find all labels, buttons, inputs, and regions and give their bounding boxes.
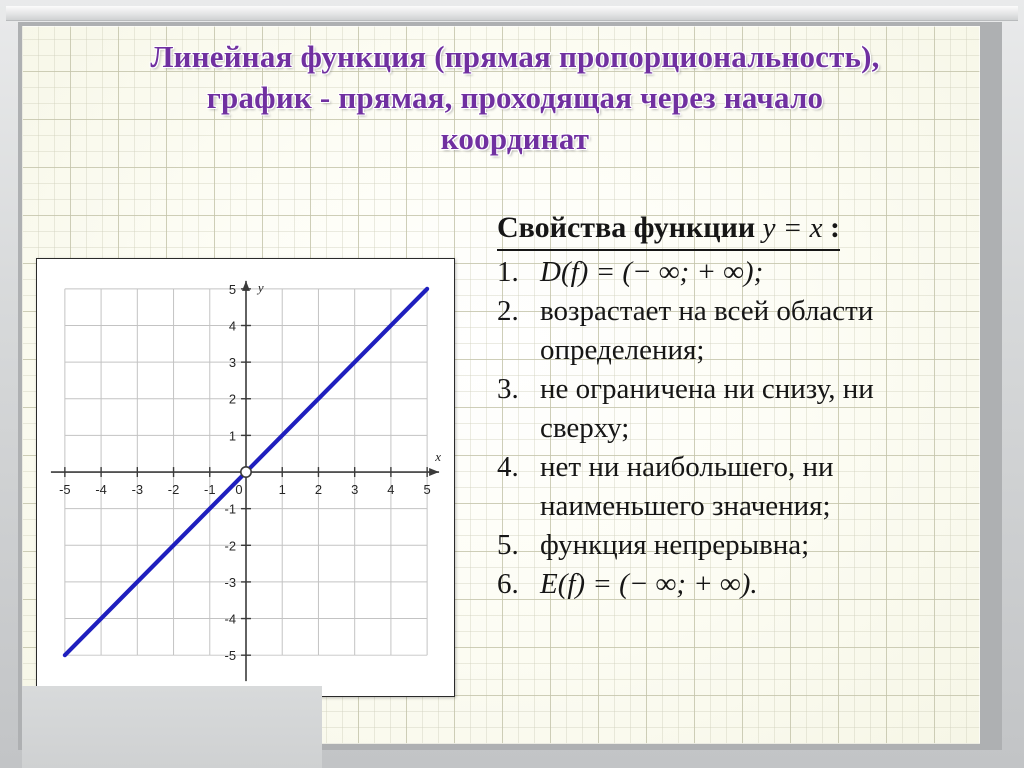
list-item-number: 1. bbox=[497, 253, 537, 292]
list-item-text: E(f) = (− ∞; + ∞). bbox=[540, 568, 758, 600]
list-item-text: не ограничена ни снизу, ни сверху; bbox=[540, 373, 874, 444]
slide: Линейная функция (прямая пропорционально… bbox=[0, 0, 1024, 768]
x-tick-label: -1 bbox=[204, 482, 215, 497]
x-tick-label: 3 bbox=[351, 482, 358, 497]
y-tick-label: 2 bbox=[229, 392, 236, 407]
y-tick-label: -2 bbox=[225, 538, 236, 553]
x-tick-label: 1 bbox=[279, 482, 286, 497]
x-tick-label: -2 bbox=[168, 482, 179, 497]
properties-heading-formula: y = x bbox=[763, 212, 823, 244]
x-tick-label: 5 bbox=[424, 482, 431, 497]
y-tick-label: -1 bbox=[225, 502, 236, 517]
list-item: 4. нет ни наибольшего, ни наименьшего зн… bbox=[497, 448, 967, 526]
y-axis-label: y bbox=[256, 280, 264, 295]
properties-heading-suffix: : bbox=[830, 211, 840, 244]
x-tick-label: -5 bbox=[59, 482, 70, 497]
list-item-number: 2. bbox=[497, 292, 537, 331]
list-item: 2. возрастает на всей области определени… bbox=[497, 292, 967, 370]
list-item-number: 5. bbox=[497, 526, 537, 565]
properties-list: 1. D(f) = (− ∞; + ∞); 2. возрастает на в… bbox=[497, 253, 967, 604]
y-tick-label: 5 bbox=[229, 282, 236, 297]
list-item-number: 4. bbox=[497, 448, 537, 487]
y-tick-label: -3 bbox=[225, 575, 236, 590]
y-tick-label: 4 bbox=[229, 318, 236, 333]
x-axis-label: x bbox=[434, 449, 441, 464]
list-item-text: возрастает на всей области определения; bbox=[540, 295, 873, 366]
list-item: 6. E(f) = (− ∞; + ∞). bbox=[497, 565, 967, 604]
x-tick-label: -3 bbox=[132, 482, 143, 497]
decoration-backdrop bbox=[22, 686, 322, 768]
origin-point-marker bbox=[241, 467, 251, 477]
x-tick-label: -4 bbox=[95, 482, 106, 497]
list-item-number: 3. bbox=[497, 370, 537, 409]
y-tick-label: 1 bbox=[229, 428, 236, 443]
coordinate-plane: -5 -4 -3 -2 -1 0 1 2 3 4 5 5 4 3 2 1 -1 … bbox=[37, 259, 454, 696]
y-tick-label: 3 bbox=[229, 355, 236, 370]
x-tick-label: 2 bbox=[315, 482, 322, 497]
x-tick-label: 4 bbox=[387, 482, 394, 497]
list-item-text: нет ни наибольшего, ни наименьшего значе… bbox=[540, 451, 834, 522]
properties-heading-prefix: Свойства функции bbox=[497, 211, 755, 244]
function-properties-panel: Свойства функции y = x : 1. D(f) = (− ∞;… bbox=[497, 208, 967, 604]
school-supplies-decoration bbox=[22, 686, 322, 768]
y-tick-label: -5 bbox=[225, 648, 236, 663]
slide-frame-highlight bbox=[6, 6, 1018, 21]
function-graph-panel: -5 -4 -3 -2 -1 0 1 2 3 4 5 5 4 3 2 1 -1 … bbox=[36, 258, 455, 697]
list-item-text: функция непрерывна; bbox=[540, 529, 809, 561]
list-item-text: D(f) = (− ∞; + ∞); bbox=[540, 256, 763, 288]
page-title: Линейная функция (прямая пропорционально… bbox=[150, 36, 880, 159]
list-item-number: 6. bbox=[497, 565, 537, 604]
list-item: 1. D(f) = (− ∞; + ∞); bbox=[497, 253, 967, 292]
y-tick-label: -4 bbox=[225, 612, 236, 627]
list-item: 5. функция непрерывна; bbox=[497, 526, 967, 565]
list-item: 3. не ограничена ни снизу, ни сверху; bbox=[497, 370, 967, 448]
properties-heading: Свойства функции y = x : bbox=[497, 208, 840, 251]
